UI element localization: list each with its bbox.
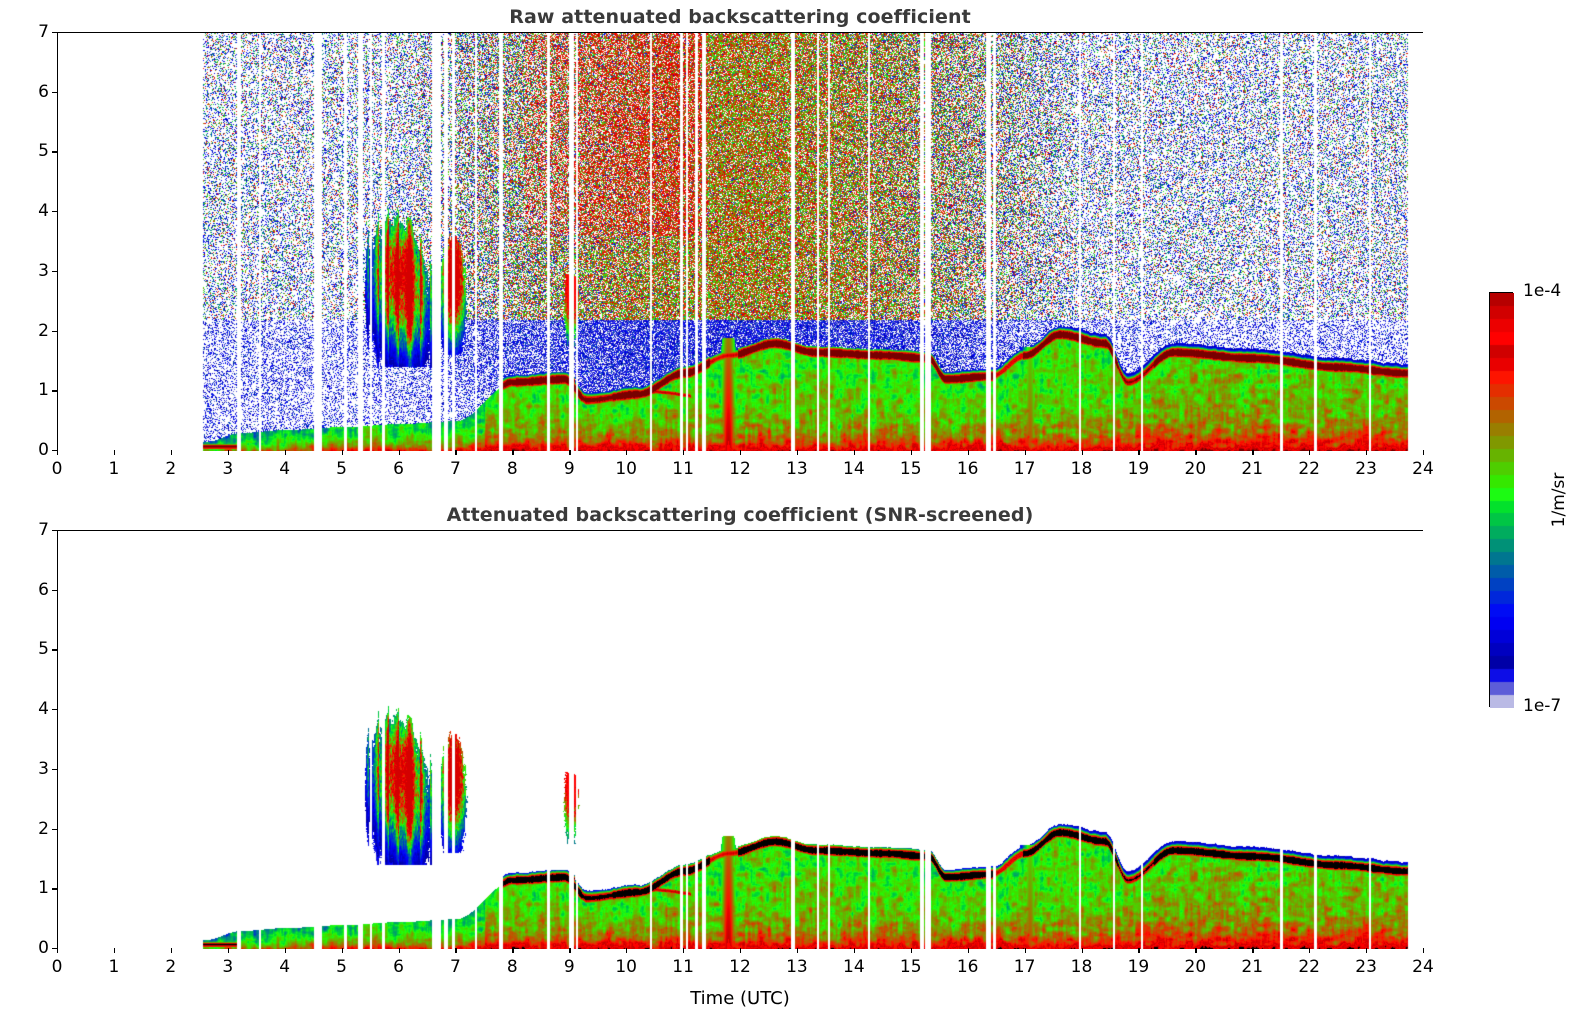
x-tick — [1195, 948, 1196, 953]
x-tick — [797, 450, 798, 455]
y-tick-label: 5 — [11, 141, 49, 161]
x-tick — [171, 450, 172, 455]
x-tick — [1025, 450, 1026, 455]
x-tick — [1366, 450, 1367, 455]
x-tick-label: 8 — [507, 459, 518, 479]
x-tick — [114, 450, 115, 455]
x-tick-label: 3 — [222, 957, 233, 977]
x-tick — [1423, 450, 1424, 455]
x-tick — [626, 948, 627, 953]
x-tick — [1309, 948, 1310, 953]
x-tick — [626, 450, 627, 455]
x-tick-label: 20 — [1185, 459, 1207, 479]
x-tick-label: 12 — [729, 957, 751, 977]
y-tick-label: 2 — [11, 321, 49, 341]
y-tick-label: 6 — [11, 82, 49, 102]
heatmap-canvas-raw — [58, 33, 1424, 451]
y-tick — [52, 211, 57, 212]
x-tick-label: 21 — [1241, 957, 1263, 977]
x-tick-label: 0 — [52, 459, 63, 479]
x-tick-label: 13 — [786, 957, 808, 977]
y-tick-label: 0 — [11, 440, 49, 460]
x-tick — [57, 948, 58, 953]
x-tick-label: 12 — [729, 459, 751, 479]
y-tick — [52, 709, 57, 710]
y-tick-label: 3 — [11, 759, 49, 779]
x-tick-label: 1 — [108, 459, 119, 479]
x-tick — [455, 450, 456, 455]
x-tick — [114, 948, 115, 953]
x-tick-label: 0 — [52, 957, 63, 977]
x-tick-label: 16 — [957, 459, 979, 479]
heatmap-canvas-screened — [58, 531, 1424, 949]
x-tick-label: 19 — [1128, 459, 1150, 479]
x-tick — [911, 948, 912, 953]
x-tick-label: 23 — [1355, 459, 1377, 479]
x-tick — [740, 450, 741, 455]
x-tick-label: 9 — [564, 957, 575, 977]
x-tick-label: 13 — [786, 459, 808, 479]
y-tick — [52, 829, 57, 830]
y-tick-label: 0 — [11, 938, 49, 958]
x-tick-label: 6 — [393, 459, 404, 479]
colorbar-max-label: 1e-4 — [1523, 281, 1561, 301]
x-tick-label: 14 — [843, 459, 865, 479]
x-tick-label: 7 — [450, 957, 461, 977]
x-tick — [1252, 948, 1253, 953]
x-tick — [285, 450, 286, 455]
x-tick — [854, 948, 855, 953]
x-tick — [1138, 450, 1139, 455]
x-tick — [512, 948, 513, 953]
y-tick-label: 3 — [11, 261, 49, 281]
x-tick-label: 21 — [1241, 459, 1263, 479]
x-tick — [683, 948, 684, 953]
plot-area-screened[interactable] — [57, 530, 1423, 948]
y-tick — [52, 271, 57, 272]
panel-title-screened: Attenuated backscattering coefficient (S… — [57, 504, 1423, 526]
x-tick-label: 3 — [222, 459, 233, 479]
x-tick — [57, 450, 58, 455]
x-tick-label: 7 — [450, 459, 461, 479]
x-tick-label: 22 — [1298, 459, 1320, 479]
x-tick-label: 10 — [615, 459, 637, 479]
x-tick — [399, 450, 400, 455]
plot-area-raw[interactable] — [57, 32, 1423, 450]
panel-title-raw: Raw attenuated backscattering coefficien… — [57, 6, 1423, 28]
colorbar-min-label: 1e-7 — [1523, 696, 1561, 716]
x-tick-label: 5 — [336, 459, 347, 479]
y-tick-label: 5 — [11, 639, 49, 659]
y-tick — [52, 649, 57, 650]
y-tick-label: 1 — [11, 878, 49, 898]
y-tick — [52, 390, 57, 391]
x-axis-label-time: Time (UTC) — [57, 988, 1423, 1009]
x-tick-label: 24 — [1412, 459, 1434, 479]
y-tick — [52, 92, 57, 93]
y-tick-label: 7 — [11, 520, 49, 540]
x-tick-label: 2 — [165, 459, 176, 479]
x-tick-label: 4 — [279, 957, 290, 977]
x-tick — [228, 948, 229, 953]
x-tick — [911, 450, 912, 455]
colorbar-gradient — [1490, 293, 1514, 708]
y-tick-label: 4 — [11, 699, 49, 719]
x-tick-label: 15 — [900, 459, 922, 479]
y-tick — [52, 530, 57, 531]
x-tick — [968, 948, 969, 953]
y-tick — [52, 151, 57, 152]
figure-root: Raw attenuated backscattering coefficien… — [0, 0, 1595, 1020]
y-tick — [52, 590, 57, 591]
x-tick — [1082, 948, 1083, 953]
y-tick — [52, 331, 57, 332]
x-tick-label: 18 — [1071, 459, 1093, 479]
x-tick — [968, 450, 969, 455]
x-tick-label: 1 — [108, 957, 119, 977]
x-tick-label: 11 — [672, 957, 694, 977]
y-tick-label: 4 — [11, 201, 49, 221]
x-tick-label: 2 — [165, 957, 176, 977]
x-tick — [1195, 450, 1196, 455]
y-tick-label: 6 — [11, 580, 49, 600]
x-tick — [1082, 450, 1083, 455]
x-tick — [285, 948, 286, 953]
x-tick — [171, 948, 172, 953]
x-tick — [455, 948, 456, 953]
y-tick — [52, 888, 57, 889]
x-tick-label: 23 — [1355, 957, 1377, 977]
y-tick — [52, 32, 57, 33]
x-tick-label: 14 — [843, 957, 865, 977]
x-tick-label: 9 — [564, 459, 575, 479]
x-tick-label: 16 — [957, 957, 979, 977]
x-tick — [740, 948, 741, 953]
x-tick-label: 18 — [1071, 957, 1093, 977]
x-tick — [569, 450, 570, 455]
x-tick — [1025, 948, 1026, 953]
x-tick-label: 22 — [1298, 957, 1320, 977]
x-tick-label: 4 — [279, 459, 290, 479]
x-tick — [1309, 450, 1310, 455]
colorbar[interactable] — [1489, 292, 1513, 707]
y-tick-label: 7 — [11, 22, 49, 42]
x-tick-label: 24 — [1412, 957, 1434, 977]
x-tick — [228, 450, 229, 455]
x-tick — [1138, 948, 1139, 953]
x-tick-label: 8 — [507, 957, 518, 977]
x-tick — [399, 948, 400, 953]
x-tick-label: 17 — [1014, 957, 1036, 977]
x-tick-label: 11 — [672, 459, 694, 479]
x-tick — [569, 948, 570, 953]
y-tick-label: 2 — [11, 819, 49, 839]
x-tick — [512, 450, 513, 455]
y-tick — [52, 769, 57, 770]
colorbar-units-label: 1/m/sr — [1549, 472, 1569, 527]
x-tick-label: 15 — [900, 957, 922, 977]
y-tick-label: 1 — [11, 380, 49, 400]
x-tick-label: 19 — [1128, 957, 1150, 977]
x-tick — [342, 948, 343, 953]
x-tick — [342, 450, 343, 455]
x-tick-label: 10 — [615, 957, 637, 977]
x-tick-label: 6 — [393, 957, 404, 977]
x-tick — [1366, 948, 1367, 953]
x-tick — [683, 450, 684, 455]
x-tick — [1423, 948, 1424, 953]
x-tick — [1252, 450, 1253, 455]
x-tick — [854, 450, 855, 455]
x-tick-label: 17 — [1014, 459, 1036, 479]
x-tick-label: 5 — [336, 957, 347, 977]
x-tick — [797, 948, 798, 953]
x-tick-label: 20 — [1185, 957, 1207, 977]
